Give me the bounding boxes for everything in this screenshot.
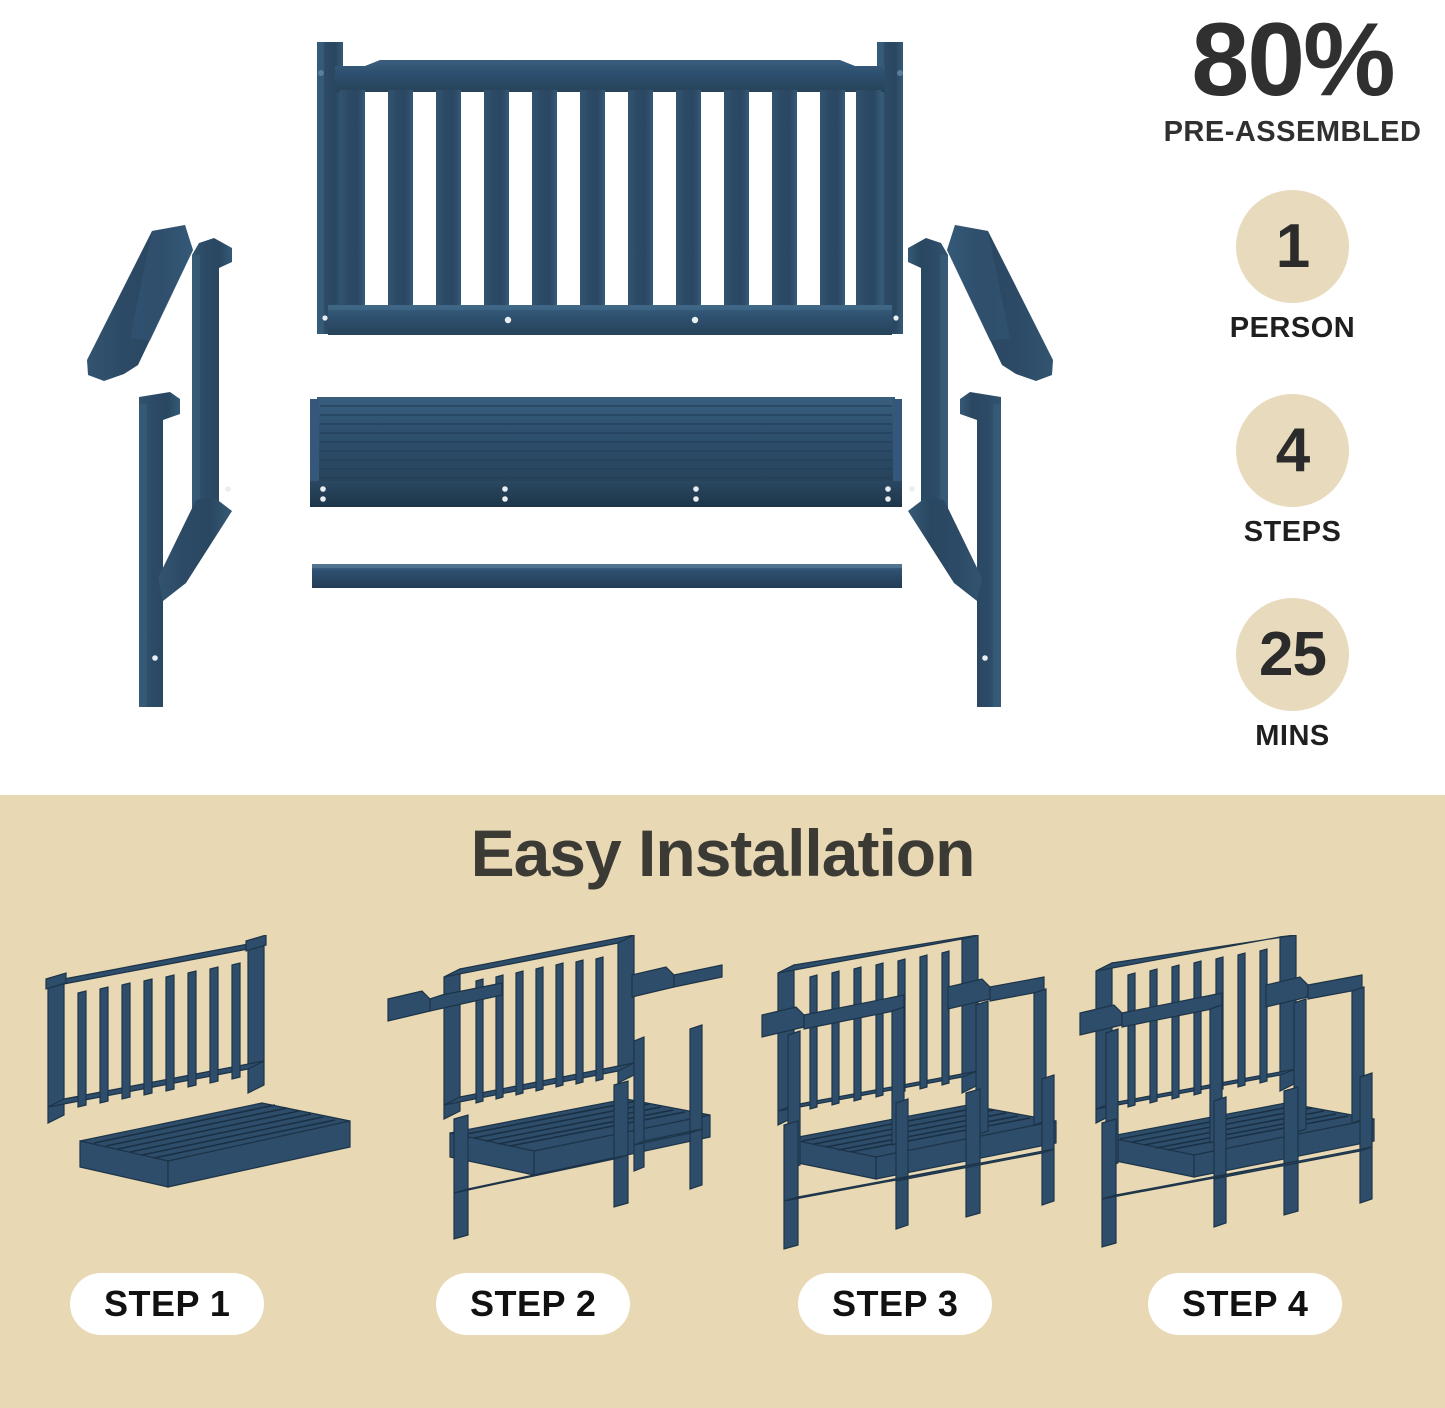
step-1-pill[interactable]: STEP 1 [70,1273,264,1335]
step-2-pill-label: STEP 2 [470,1283,596,1325]
step-1-illustration [20,935,380,1265]
step-1-cell [20,935,380,1265]
step-4-cell [1068,935,1428,1265]
badge-person: 1 PERSON [1140,190,1445,345]
step-pills-row: STEP 1 STEP 2 STEP 3 STEP 4 [0,1273,1445,1343]
step-2-cell [382,935,742,1265]
badge-person-number: 1 [1276,216,1309,278]
step-3-cell [744,935,1104,1265]
stats-column: 80% PRE-ASSEMBLED 1 PERSON 4 STEPS 25 M [1140,0,1445,795]
step-1-pill-label: STEP 1 [104,1283,230,1325]
step-4-pill-label: STEP 4 [1182,1283,1308,1325]
exploded-parts-svg [0,0,1140,795]
step-3-pill-label: STEP 3 [832,1283,958,1325]
step-2-illustration [382,935,742,1265]
backrest-panel-group [317,42,903,335]
step-3-illustration [744,935,1104,1265]
exploded-view-section: 80% PRE-ASSEMBLED 1 PERSON 4 STEPS 25 M [0,0,1445,795]
badge-mins-circle: 25 [1236,598,1349,711]
step-4-pill[interactable]: STEP 4 [1148,1273,1342,1335]
easy-installation-title: Easy Installation [0,815,1445,891]
left-side-parts-group [87,225,232,707]
installation-steps-row [0,935,1445,1265]
badge-mins: 25 MINS [1140,598,1445,753]
step-3-pill[interactable]: STEP 3 [798,1273,992,1335]
bottom-stretcher-rail-group [312,564,902,588]
step-2-pill[interactable]: STEP 2 [436,1273,630,1335]
seat-panel-group [310,397,902,507]
badge-steps: 4 STEPS [1140,394,1445,549]
easy-installation-section: Easy Installation [0,795,1445,1408]
pre-assembled-label: PRE-ASSEMBLED [1140,116,1445,149]
pre-assembled-percent: 80% [1140,8,1445,112]
badge-steps-number: 4 [1276,420,1309,482]
right-side-parts-group [908,225,1053,707]
step-4-illustration [1068,935,1428,1265]
badge-mins-number: 25 [1259,624,1326,686]
product-infographic: 80% PRE-ASSEMBLED 1 PERSON 4 STEPS 25 M [0,0,1445,1408]
pre-assembled-stat: 80% PRE-ASSEMBLED [1140,8,1445,149]
exploded-parts-diagram [0,0,1140,795]
badge-mins-label: MINS [1140,720,1445,753]
badge-person-label: PERSON [1140,312,1445,345]
badge-steps-label: STEPS [1140,516,1445,549]
badge-person-circle: 1 [1236,190,1349,303]
badge-steps-circle: 4 [1236,394,1349,507]
